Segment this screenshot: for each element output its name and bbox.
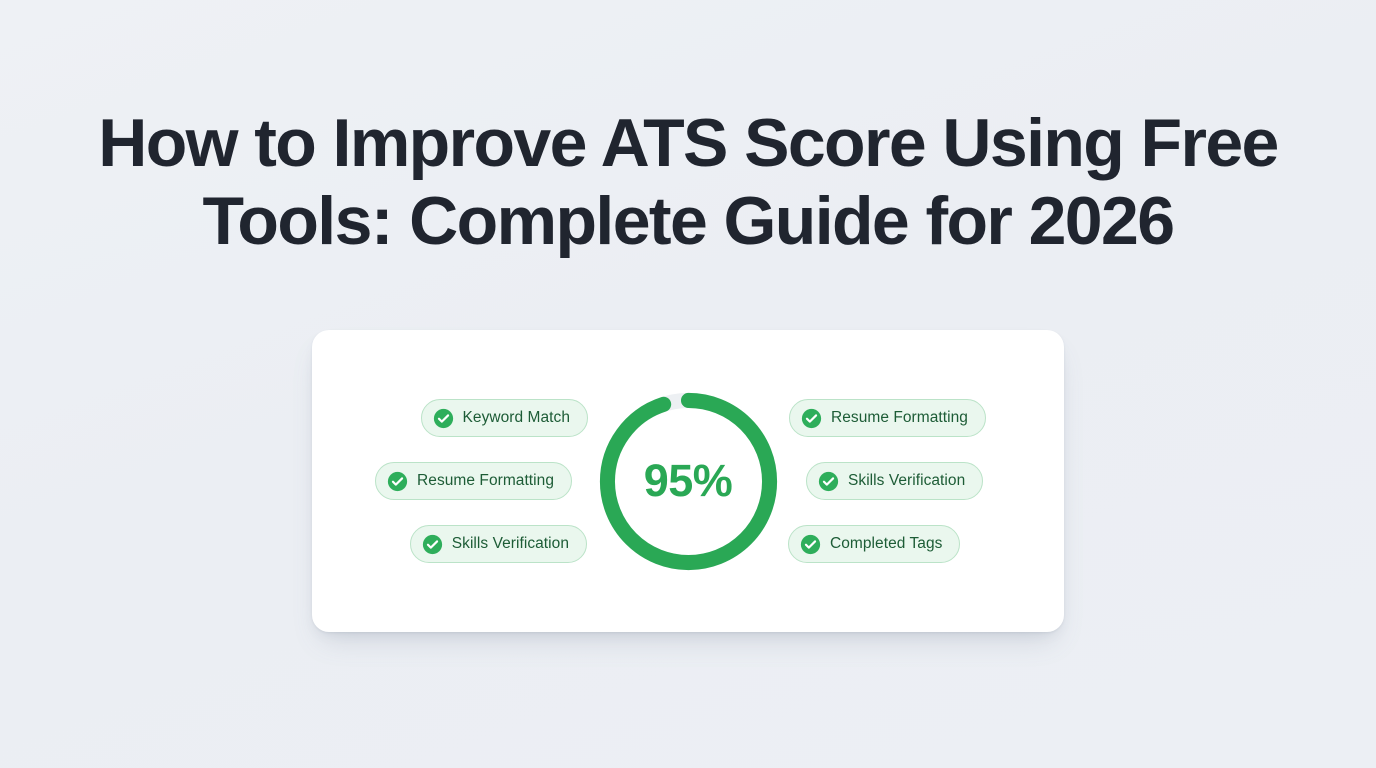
badge-label: Resume Formatting xyxy=(417,473,554,489)
right-badge-column: Resume Formatting Skills Verification xyxy=(788,399,1030,563)
badge-completed-tags[interactable]: Completed Tags xyxy=(788,525,960,563)
badge-resume-formatting-left[interactable]: Resume Formatting xyxy=(375,462,572,500)
badge-label: Keyword Match xyxy=(463,410,570,426)
title-container: How to Improve ATS Score Using Free Tool… xyxy=(98,104,1278,260)
check-circle-icon xyxy=(433,408,454,429)
badge-label: Completed Tags xyxy=(830,536,942,552)
check-circle-icon xyxy=(422,534,443,555)
badge-label: Skills Verification xyxy=(452,536,569,552)
badge-resume-formatting-right[interactable]: Resume Formatting xyxy=(789,399,986,437)
check-circle-icon xyxy=(800,534,821,555)
page-root: How to Improve ATS Score Using Free Tool… xyxy=(0,0,1376,768)
ats-score-donut-chart: 95% xyxy=(592,385,785,578)
badge-skills-verification-left[interactable]: Skills Verification xyxy=(410,525,587,563)
check-circle-icon xyxy=(387,471,408,492)
badge-keyword-match[interactable]: Keyword Match xyxy=(421,399,588,437)
check-circle-icon xyxy=(818,471,839,492)
card-inner: Keyword Match Resume Formatting xyxy=(312,330,1064,632)
badge-label: Skills Verification xyxy=(848,473,965,489)
badge-label: Resume Formatting xyxy=(831,410,968,426)
ats-score-card: Keyword Match Resume Formatting xyxy=(312,330,1064,632)
page-title: How to Improve ATS Score Using Free Tool… xyxy=(98,104,1278,260)
check-circle-icon xyxy=(801,408,822,429)
donut-center-value: 95% xyxy=(592,385,785,578)
badge-skills-verification-right[interactable]: Skills Verification xyxy=(806,462,983,500)
left-badge-column: Keyword Match Resume Formatting xyxy=(346,399,588,563)
